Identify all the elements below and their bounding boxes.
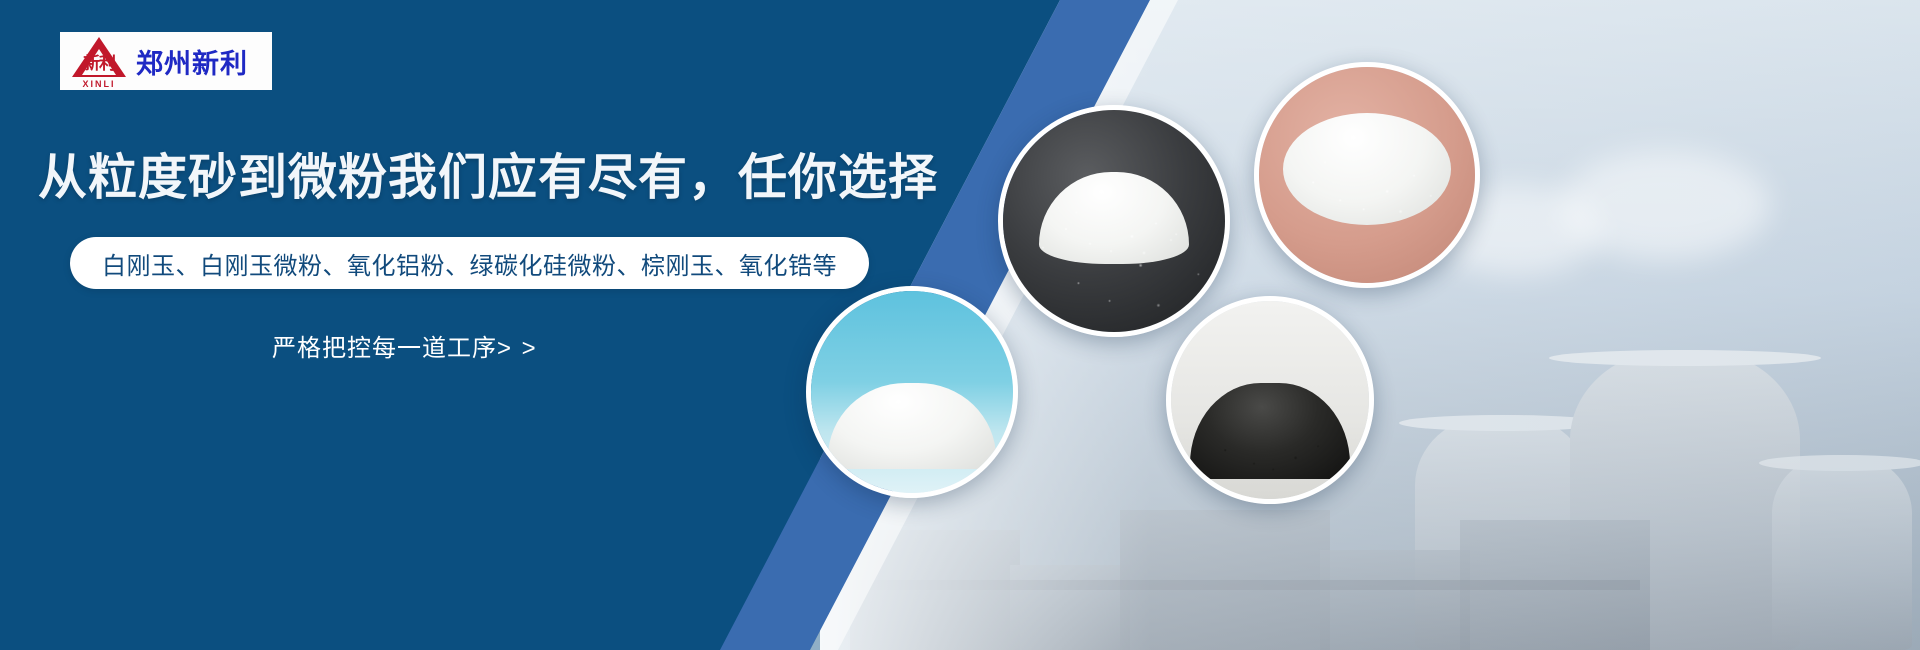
product-list-pill[interactable]: 白刚玉、白刚玉微粉、氧化铝粉、绿碳化硅微粉、棕刚玉、氧化锆等 — [70, 237, 869, 289]
promo-banner: 新利 XINLI 郑州新利 从粒度砂到微粉我们应有尽有，任你选择 白刚玉、白刚玉… — [0, 0, 1920, 650]
logo-triangle-mark: 新利 XINLI — [68, 35, 130, 87]
banner-tagline[interactable]: 严格把控每一道工序> > — [272, 328, 538, 363]
scattered-grit — [1003, 110, 1225, 332]
product-image-white-powder-salmon-bowl — [1254, 62, 1480, 288]
logo-pinyin-text: XINLI — [68, 79, 130, 89]
grit-specks — [1190, 383, 1350, 479]
grit-cone — [1190, 383, 1350, 479]
powder-specks — [1283, 113, 1451, 225]
company-logo[interactable]: 新利 XINLI 郑州新利 — [60, 32, 272, 90]
logo-company-name: 郑州新利 — [136, 42, 248, 81]
logo-mark-text: 新利 — [70, 55, 128, 72]
product-list-text: 白刚玉、白刚玉微粉、氧化铝粉、绿碳化硅微粉、棕刚玉、氧化锆等 — [102, 246, 837, 281]
product-image-black-grit-cone-white — [1166, 296, 1374, 504]
tagline-text: 严格把控每一道工序 — [272, 335, 497, 362]
tagline-arrow-icon: > > — [497, 335, 538, 362]
banner-headline: 从粒度砂到微粉我们应有尽有，任你选择 — [38, 138, 938, 209]
powder-mound — [1283, 113, 1451, 225]
product-image-white-powder-cone-cyan — [806, 286, 1018, 498]
